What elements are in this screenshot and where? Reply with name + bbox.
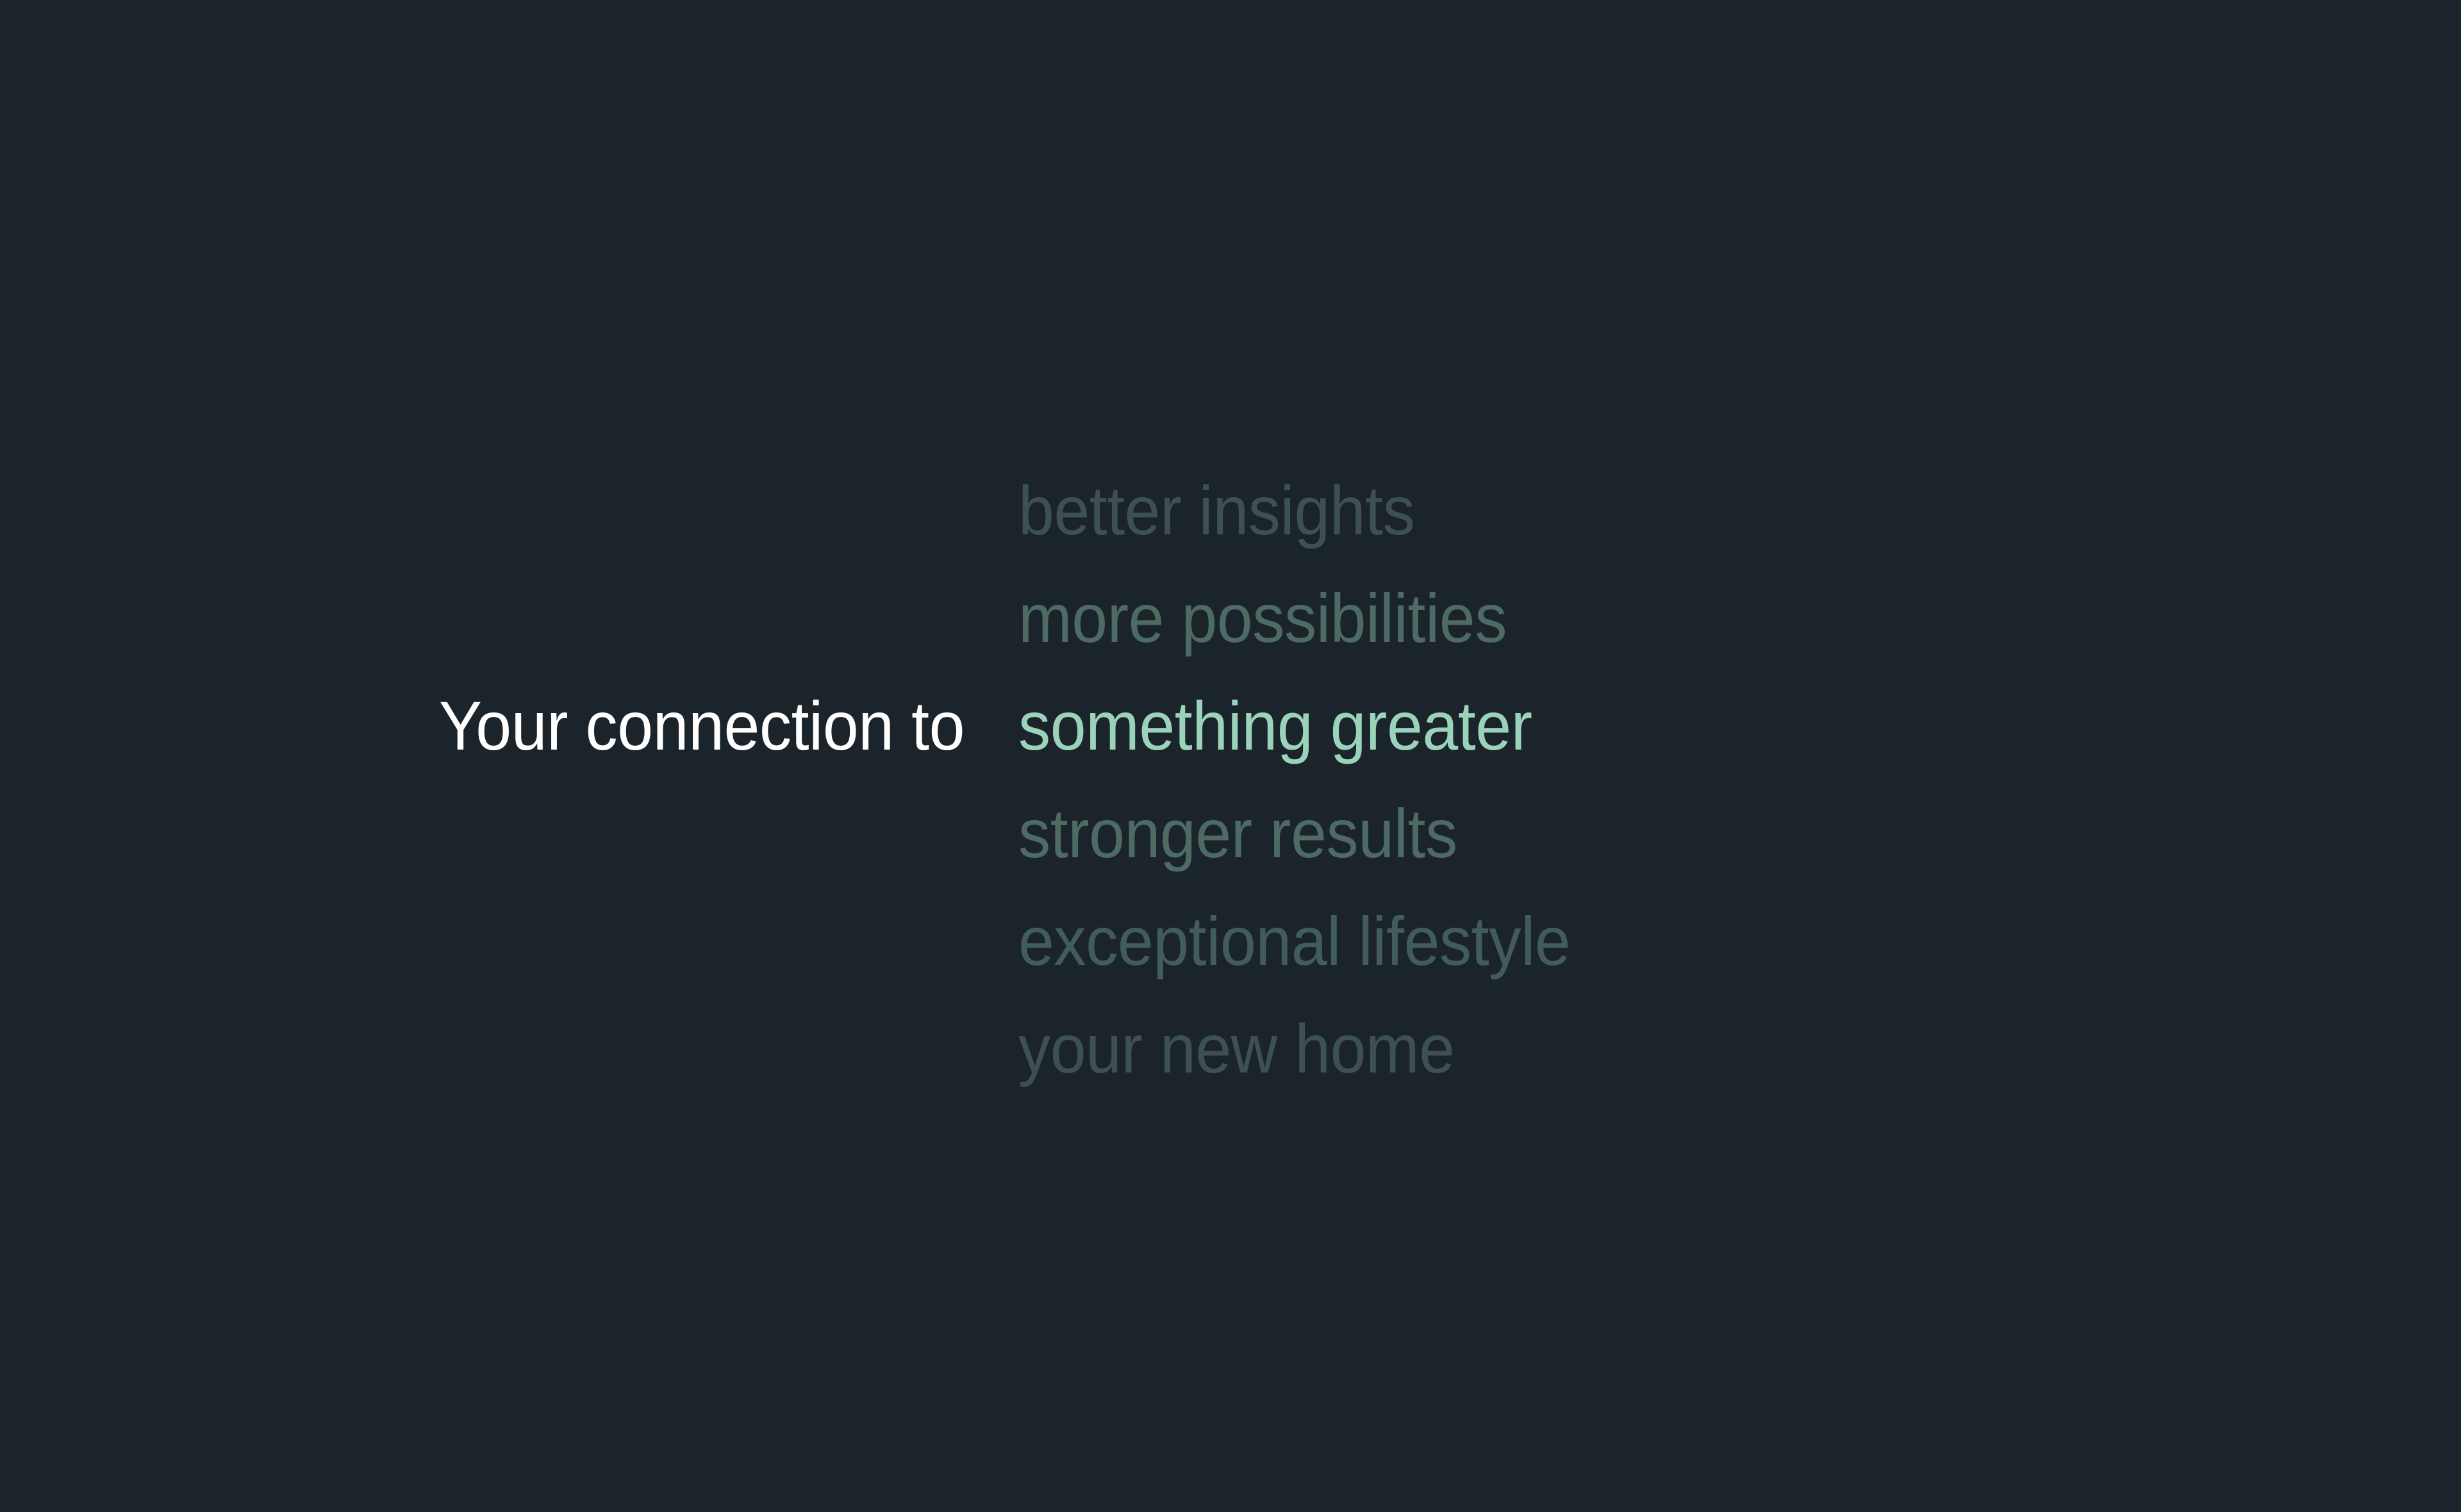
rotating-phrase-item-active: something greater <box>1018 687 1532 765</box>
rotating-phrase-item-0: better insights <box>1018 472 1414 550</box>
rotating-phrase-item-3: stronger results <box>1018 794 1457 873</box>
rotating-phrase-item-4: exceptional lifestyle <box>1018 902 1570 980</box>
rotating-phrase-item-1: more possibilities <box>1018 579 1507 657</box>
hero-section: Your connection to better insights more … <box>0 0 2461 1512</box>
rotating-phrase-item-5: your new home <box>1018 1010 1455 1088</box>
headline-static-prefix: Your connection to <box>439 687 977 765</box>
hero-headline: Your connection to better insights more … <box>439 687 1018 765</box>
